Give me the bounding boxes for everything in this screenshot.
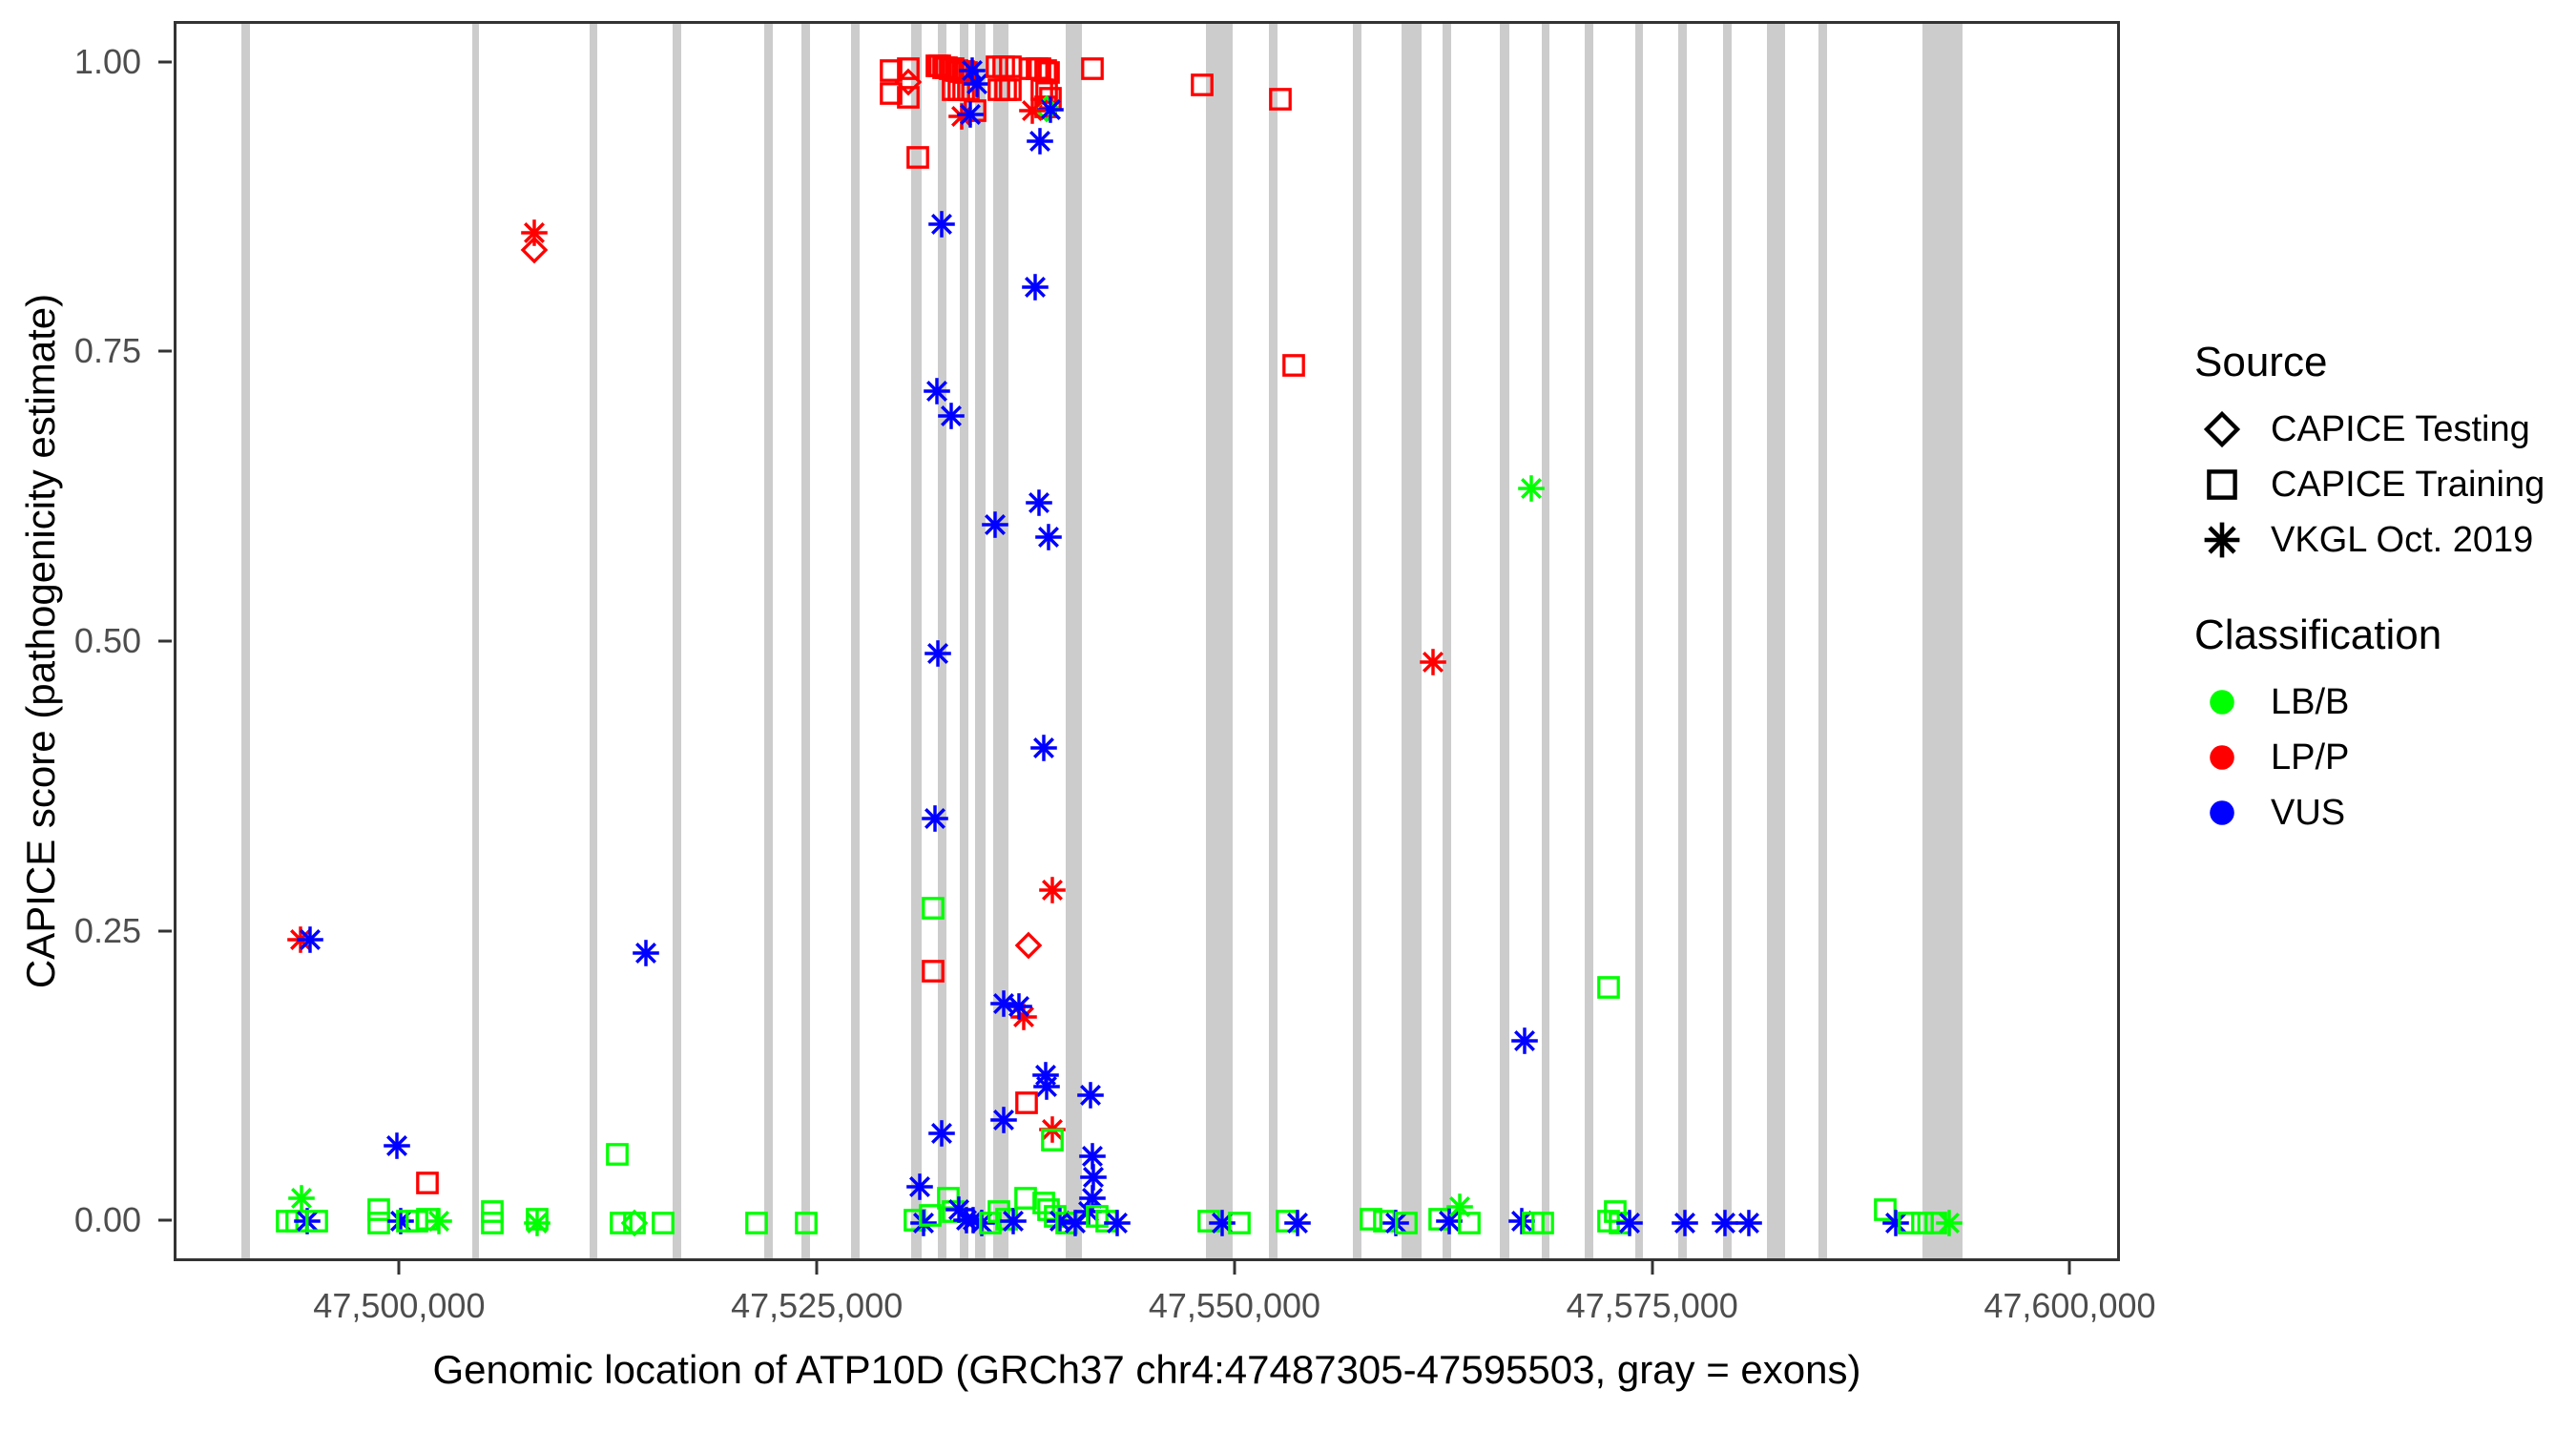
legend-label: CAPICE Training bbox=[2271, 465, 2545, 506]
data-point-square bbox=[364, 1209, 393, 1237]
data-point-square bbox=[1279, 351, 1308, 380]
data-point-diamond bbox=[520, 236, 549, 264]
data-point-square bbox=[1895, 1209, 1923, 1237]
data-point-square bbox=[1455, 1209, 1484, 1237]
y-tick-label: 0.25 bbox=[0, 911, 141, 951]
data-point-asterisk bbox=[1018, 96, 1047, 125]
legend-item-class-dot[interactable]: VUS bbox=[2194, 785, 2545, 840]
data-point-asterisk bbox=[1735, 1209, 1763, 1237]
data-point-square bbox=[1034, 1195, 1063, 1224]
data-point-square bbox=[478, 1209, 507, 1237]
data-point-asterisk bbox=[293, 1207, 322, 1235]
data-point-square bbox=[403, 1207, 431, 1235]
exon-bar bbox=[764, 24, 773, 1258]
data-point-asterisk bbox=[1881, 1209, 1910, 1237]
data-point-square bbox=[1038, 1126, 1067, 1154]
data-point-square bbox=[1594, 973, 1623, 1002]
exon-bar bbox=[911, 24, 922, 1258]
data-point-asterisk bbox=[286, 925, 315, 954]
data-point-square bbox=[523, 1205, 551, 1234]
data-point-asterisk bbox=[1034, 523, 1063, 551]
class-dot-icon bbox=[2194, 730, 2250, 785]
data-point-asterisk bbox=[1079, 1163, 1108, 1192]
exon-bar bbox=[1402, 24, 1422, 1258]
data-point-square bbox=[1357, 1205, 1385, 1234]
data-point-asterisk bbox=[425, 1207, 453, 1235]
data-point-square bbox=[877, 56, 905, 85]
y-tick-label: 0.00 bbox=[0, 1200, 141, 1240]
data-point-asterisk bbox=[1507, 1207, 1536, 1235]
data-point-asterisk bbox=[1510, 1027, 1539, 1055]
exon-bar bbox=[472, 24, 479, 1258]
data-point-square bbox=[393, 1207, 422, 1235]
y-tick-mark bbox=[158, 350, 172, 353]
legend-label: LB/B bbox=[2271, 682, 2349, 723]
data-point-asterisk bbox=[632, 939, 660, 967]
exon-bar bbox=[590, 24, 598, 1258]
legend-item-diamond[interactable]: CAPICE Testing bbox=[2194, 402, 2545, 457]
exon-bar bbox=[975, 24, 986, 1258]
exon-bar bbox=[960, 24, 968, 1258]
data-point-square bbox=[1092, 1207, 1121, 1235]
x-tick-mark bbox=[1651, 1261, 1653, 1275]
data-point-asterisk bbox=[1026, 127, 1054, 156]
exon-bar bbox=[851, 24, 860, 1258]
data-point-asterisk bbox=[1031, 1061, 1060, 1089]
y-tick-label: 1.00 bbox=[0, 42, 141, 82]
exon-bar bbox=[1269, 24, 1278, 1258]
data-point-diamond bbox=[1014, 931, 1043, 960]
legend-item-asterisk[interactable]: VKGL Oct. 2019 bbox=[2194, 512, 2545, 568]
exon-bar bbox=[1542, 24, 1550, 1258]
data-point-square bbox=[1083, 1202, 1111, 1231]
data-point-asterisk bbox=[383, 1131, 411, 1160]
exon-bar bbox=[1500, 24, 1510, 1258]
data-point-square bbox=[1011, 1184, 1040, 1213]
legend-item-class-dot[interactable]: LP/P bbox=[2194, 730, 2545, 785]
data-point-square bbox=[932, 53, 961, 82]
data-point-asterisk bbox=[1009, 1003, 1038, 1031]
data-point-square bbox=[1273, 1207, 1301, 1235]
data-point-square bbox=[1370, 1207, 1399, 1235]
legend-label: CAPICE Testing bbox=[2271, 409, 2530, 450]
x-tick-label: 47,600,000 bbox=[1984, 1286, 2155, 1326]
data-point-square bbox=[1594, 1207, 1623, 1235]
chart-legend: Source CAPICE TestingCAPICE TrainingVKGL… bbox=[2194, 339, 2545, 884]
data-point-square bbox=[945, 75, 973, 104]
data-point-square bbox=[1031, 93, 1060, 121]
exon-bar bbox=[1206, 24, 1233, 1258]
data-point-square bbox=[1012, 1089, 1041, 1117]
data-point-square bbox=[364, 1195, 393, 1224]
exon-bar bbox=[1818, 24, 1827, 1258]
data-point-asterisk bbox=[1036, 95, 1065, 124]
data-point-square bbox=[1036, 84, 1065, 113]
data-point-asterisk bbox=[296, 925, 324, 954]
exon-bar bbox=[1066, 24, 1083, 1258]
data-point-asterisk bbox=[1025, 488, 1053, 517]
data-point-diamond bbox=[1032, 94, 1061, 123]
data-point-square bbox=[273, 1207, 301, 1235]
data-point-asterisk bbox=[1021, 273, 1049, 301]
x-tick-label: 47,500,000 bbox=[313, 1286, 485, 1326]
class-dot-icon bbox=[2194, 785, 2250, 840]
data-point-square bbox=[1023, 54, 1051, 83]
square-icon bbox=[2194, 457, 2250, 512]
data-point-asterisk bbox=[1038, 1115, 1067, 1144]
data-point-asterisk bbox=[386, 1207, 415, 1235]
data-point-square bbox=[413, 1169, 442, 1197]
class-dot-icon bbox=[2194, 674, 2250, 730]
data-point-square bbox=[607, 1209, 635, 1237]
data-point-square bbox=[1032, 78, 1061, 107]
exon-bar bbox=[1635, 24, 1644, 1258]
legend-label: VUS bbox=[2271, 793, 2345, 834]
asterisk-icon bbox=[2194, 512, 2250, 568]
data-point-square bbox=[877, 79, 905, 108]
data-point-asterisk bbox=[1103, 1209, 1132, 1237]
data-point-square bbox=[923, 52, 951, 80]
data-point-square bbox=[1034, 58, 1063, 87]
data-point-square bbox=[282, 1207, 311, 1235]
exon-bar bbox=[993, 24, 1008, 1258]
exon-bar bbox=[1678, 24, 1687, 1258]
data-point-asterisk bbox=[520, 218, 549, 247]
data-point-square bbox=[620, 1209, 649, 1237]
data-point-square bbox=[1031, 56, 1060, 85]
legend-group-source: Source CAPICE TestingCAPICE TrainingVKGL… bbox=[2194, 339, 2545, 568]
exon-bar bbox=[1723, 24, 1732, 1258]
plot-panel[interactable] bbox=[174, 21, 2120, 1261]
data-point-square bbox=[603, 1140, 632, 1169]
data-point-square bbox=[302, 1207, 331, 1235]
x-tick-mark bbox=[816, 1261, 819, 1275]
data-point-square bbox=[1078, 54, 1107, 83]
exon-bar bbox=[673, 24, 681, 1258]
data-point-asterisk bbox=[287, 1184, 316, 1213]
x-tick-label: 47,550,000 bbox=[1149, 1286, 1320, 1326]
data-point-asterisk bbox=[1283, 1209, 1312, 1237]
exon-bar bbox=[1353, 24, 1361, 1258]
exon-bar bbox=[801, 24, 810, 1258]
data-point-square bbox=[1026, 54, 1054, 83]
y-tick-label: 0.75 bbox=[0, 331, 141, 371]
legend-label: VKGL Oct. 2019 bbox=[2271, 520, 2533, 561]
legend-item-square[interactable]: CAPICE Training bbox=[2194, 457, 2545, 512]
data-point-asterisk bbox=[1078, 1184, 1107, 1213]
data-point-square bbox=[1601, 1197, 1630, 1226]
data-point-diamond bbox=[620, 1209, 649, 1237]
exon-bar bbox=[241, 24, 250, 1258]
x-tick-label: 47,575,000 bbox=[1567, 1286, 1738, 1326]
data-point-asterisk bbox=[923, 377, 951, 405]
x-tick-mark bbox=[2068, 1261, 2071, 1275]
exon-bar bbox=[1443, 24, 1451, 1258]
y-tick-mark bbox=[158, 1219, 172, 1222]
legend-title-classification: Classification bbox=[2194, 612, 2545, 659]
data-point-asterisk bbox=[1005, 992, 1033, 1021]
legend-group-classification: Classification LB/BLP/PVUS bbox=[2194, 612, 2545, 840]
exon-bar bbox=[938, 24, 946, 1258]
data-point-asterisk bbox=[523, 1209, 551, 1237]
x-axis-title: Genomic location of ATP10D (GRCh37 chr4:… bbox=[174, 1347, 2120, 1393]
data-point-asterisk bbox=[1029, 734, 1058, 762]
data-point-square bbox=[1029, 1189, 1058, 1217]
legend-title-source: Source bbox=[2194, 339, 2545, 386]
diamond-icon bbox=[2194, 402, 2250, 457]
x-tick-mark bbox=[398, 1261, 401, 1275]
data-point-square bbox=[1871, 1195, 1900, 1224]
data-point-asterisk bbox=[1078, 1142, 1107, 1171]
x-tick-mark bbox=[1233, 1261, 1236, 1275]
y-tick-label: 0.50 bbox=[0, 621, 141, 661]
data-point-asterisk bbox=[1038, 876, 1067, 904]
exon-bar bbox=[1585, 24, 1593, 1258]
y-tick-mark bbox=[158, 60, 172, 63]
legend-label: LP/P bbox=[2271, 737, 2349, 778]
data-point-square bbox=[478, 1197, 507, 1226]
exon-bar bbox=[1922, 24, 1963, 1258]
x-tick-label: 47,525,000 bbox=[731, 1286, 903, 1326]
data-point-asterisk bbox=[1032, 1072, 1061, 1101]
legend-item-class-dot[interactable]: LB/B bbox=[2194, 674, 2545, 730]
exon-bar bbox=[1767, 24, 1785, 1258]
data-point-square bbox=[1606, 1209, 1634, 1237]
y-tick-mark bbox=[158, 640, 172, 643]
data-point-asterisk bbox=[945, 1195, 973, 1224]
y-tick-mark bbox=[158, 929, 172, 932]
data-point-square bbox=[413, 1205, 442, 1234]
data-point-square bbox=[1028, 75, 1056, 104]
data-point-square bbox=[1016, 54, 1045, 83]
